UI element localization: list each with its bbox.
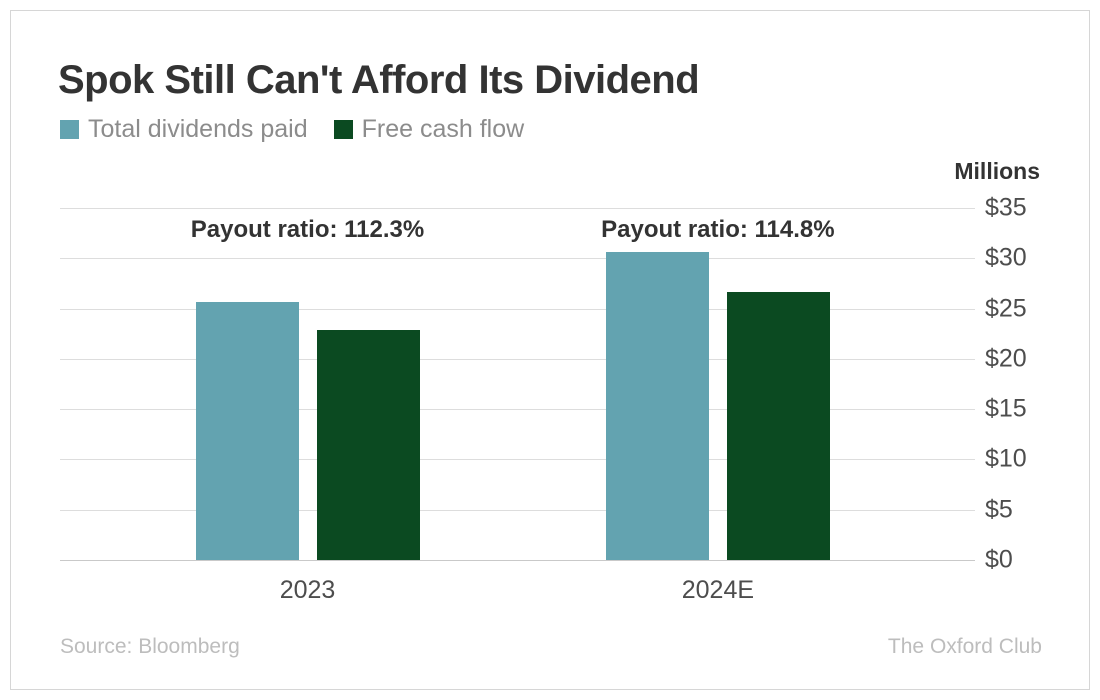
x-axis-tick-label: 2023 <box>280 576 336 605</box>
bar-2024e-free-cash-flow <box>727 292 830 560</box>
chart-legend: Total dividends paid Free cash flow <box>60 117 524 142</box>
y-axis-tick-label: $35 <box>985 196 1027 221</box>
y-axis-tick-label: $0 <box>985 548 1013 573</box>
bar-2023-free-cash-flow <box>317 330 420 560</box>
brand-credit: The Oxford Club <box>888 635 1042 659</box>
legend-swatch-icon <box>334 120 353 139</box>
y-axis-tick-label: $30 <box>985 246 1027 271</box>
legend-label: Free cash flow <box>362 117 525 142</box>
chart-figure: Spok Still Can't Afford Its Dividend Tot… <box>0 0 1100 700</box>
y-axis-tick-label: $25 <box>985 296 1027 321</box>
x-axis-tick-label: 2024E <box>682 576 754 605</box>
y-axis-tick-label: $10 <box>985 447 1027 472</box>
gridline <box>60 560 975 561</box>
y-axis-units-label: Millions <box>954 158 1040 185</box>
legend-item-free-cash-flow: Free cash flow <box>334 117 525 142</box>
page-title: Spok Still Can't Afford Its Dividend <box>58 58 699 103</box>
plot-area: $35$30$25$20$15$10$5$0Payout ratio: 112.… <box>60 208 975 560</box>
legend-item-total-dividends-paid: Total dividends paid <box>60 117 308 142</box>
bar-2023-total-dividends-paid <box>196 302 299 560</box>
gridline <box>60 208 975 209</box>
bar-2024e-total-dividends-paid <box>606 252 709 560</box>
y-axis-tick-label: $15 <box>985 397 1027 422</box>
payout-ratio-annotation: Payout ratio: 112.3% <box>191 216 424 244</box>
legend-swatch-icon <box>60 120 79 139</box>
payout-ratio-annotation: Payout ratio: 114.8% <box>601 216 834 244</box>
y-axis-tick-label: $5 <box>985 497 1013 522</box>
source-note: Source: Bloomberg <box>60 635 240 659</box>
legend-label: Total dividends paid <box>88 117 308 142</box>
y-axis-tick-label: $20 <box>985 346 1027 371</box>
gridline <box>60 258 975 259</box>
